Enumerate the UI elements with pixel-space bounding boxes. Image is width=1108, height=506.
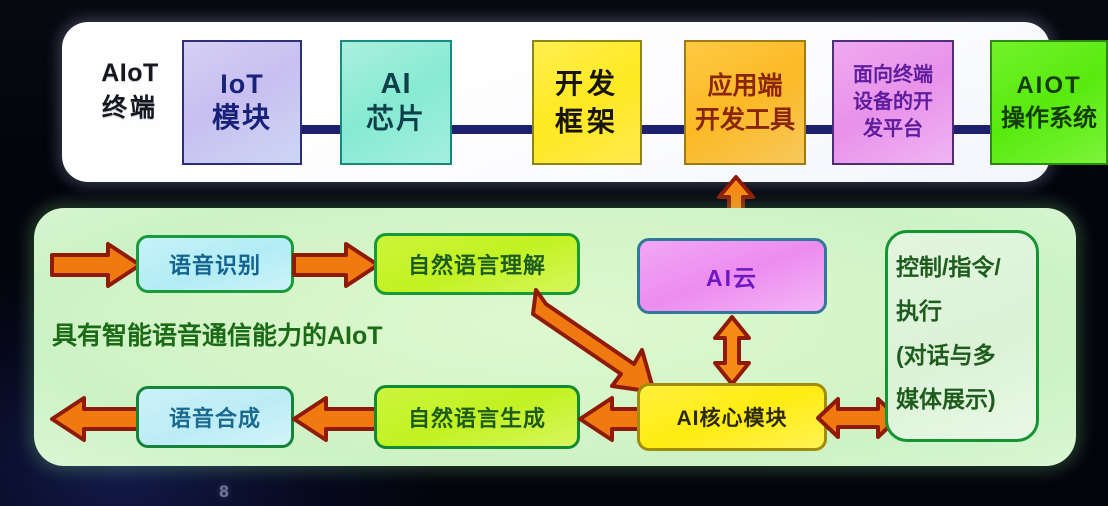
aiot-terminal-label-line1: AIoT <box>101 59 159 87</box>
arrow-cloud-to-core <box>712 316 752 386</box>
slide-photo: AIoT 终端 IoT 模块 AI 芯片 开发 框架 应用端 开发工具 面向终端… <box>0 0 1108 506</box>
aiot-terminal-label-line2: 终端 <box>102 94 158 122</box>
chip-aiot-os-line1: AIOT <box>1016 70 1081 102</box>
page-number-value: 8 <box>219 482 228 501</box>
node-nlg[interactable]: 自然语言生成 <box>374 385 580 449</box>
node-ai-core-module[interactable]: AI核心模块 <box>637 383 827 451</box>
chip-app-dev-tool-line2: 开发工具 <box>695 103 795 137</box>
chip-app-dev-tool-line1: 应用端 <box>707 69 782 103</box>
control-command-box: 控制/指令/ 执行 (对话与多 媒体展示) <box>885 230 1039 442</box>
node-speech-recognition[interactable]: 语音识别 <box>136 235 294 293</box>
chip-ai-chip-line1: AI <box>381 68 412 101</box>
control-command-line1: 控制/指令/ <box>896 245 1036 289</box>
node-nlu-label: 自然语言理解 <box>408 248 546 280</box>
aiot-terminal-label: AIoT 终端 <box>74 56 186 126</box>
voice-ai-flow-panel: 语音识别 自然语言理解 具有智能语音通信能力的AIoT AI云 <box>34 208 1076 466</box>
node-nlg-label: 自然语言生成 <box>408 401 546 433</box>
connector-ai-to-framework <box>450 125 534 134</box>
node-speech-synthesis[interactable]: 语音合成 <box>136 386 294 448</box>
node-ai-cloud-label: AI云 <box>706 259 758 293</box>
chip-dev-platform-line3: 发平台 <box>863 116 923 143</box>
chip-dev-framework-line2: 框架 <box>555 103 619 141</box>
chip-dev-platform-line2: 设备的开 <box>853 89 933 116</box>
chip-app-dev-tool[interactable]: 应用端 开发工具 <box>684 40 806 165</box>
chip-ai-chip-line2: 芯片 <box>366 101 426 137</box>
chip-iot-module-line1: IoT <box>220 69 264 100</box>
connector-tool-to-platform <box>804 125 834 134</box>
control-command-line4: 媒体展示) <box>896 377 1036 421</box>
chip-dev-framework-line1: 开发 <box>555 65 619 103</box>
node-ai-core-module-label: AI核心模块 <box>677 402 788 432</box>
voice-ai-caption: 具有智能语音通信能力的AIoT <box>52 316 383 352</box>
arrow-nlg-to-tts <box>292 396 380 442</box>
arrow-core-to-nlg <box>578 396 642 442</box>
chip-iot-module[interactable]: IoT 模块 <box>182 40 302 165</box>
chip-aiot-os-line2: 操作系统 <box>1001 102 1097 136</box>
node-speech-synthesis-label: 语音合成 <box>169 401 261 433</box>
node-ai-cloud[interactable]: AI云 <box>637 238 827 314</box>
chip-aiot-os[interactable]: AIOT 操作系统 <box>990 40 1108 165</box>
connector-iot-to-ai <box>300 125 342 134</box>
node-speech-recognition-label: 语音识别 <box>169 248 261 280</box>
node-nlu[interactable]: 自然语言理解 <box>374 233 580 295</box>
control-command-line2: 执行 <box>896 289 1036 333</box>
chip-dev-platform[interactable]: 面向终端 设备的开 发平台 <box>832 40 954 165</box>
arrow-input-to-asr <box>50 242 142 288</box>
chip-dev-framework[interactable]: 开发 框架 <box>532 40 642 165</box>
chip-iot-module-line2: 模块 <box>212 100 272 136</box>
control-command-line3: (对话与多 <box>896 333 1036 377</box>
arrow-tts-to-output <box>46 396 142 442</box>
chip-ai-chip[interactable]: AI 芯片 <box>340 40 452 165</box>
page-number: 8 <box>0 482 1108 502</box>
chip-dev-platform-line1: 面向终端 <box>853 62 933 89</box>
connector-framework-to-tool <box>640 125 686 134</box>
arrow-asr-to-nlu <box>292 242 380 288</box>
aiot-terminal-stack-panel: AIoT 终端 IoT 模块 AI 芯片 开发 框架 应用端 开发工具 面向终端… <box>62 22 1050 182</box>
connector-platform-to-os <box>952 125 992 134</box>
